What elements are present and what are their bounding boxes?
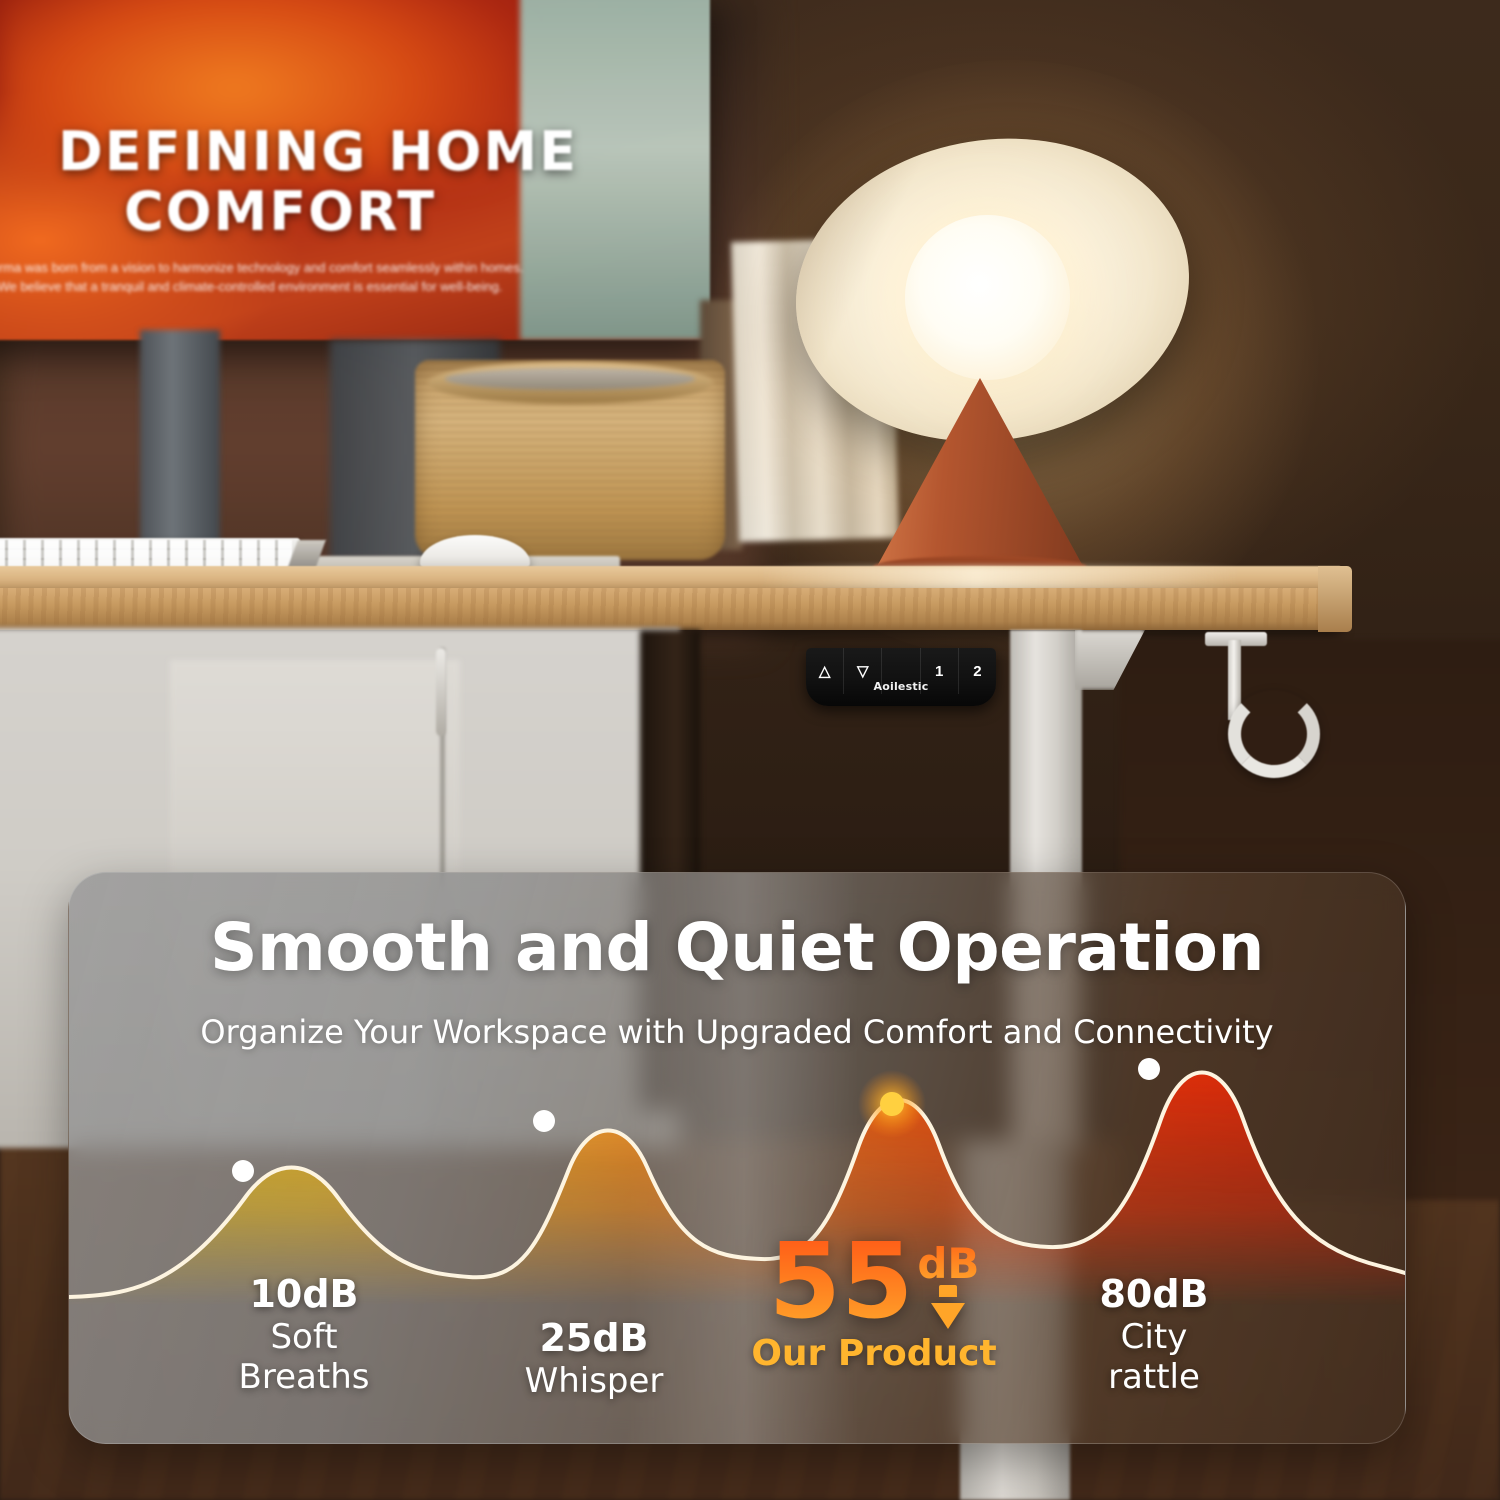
- desk-edge: [0, 588, 1340, 630]
- label-name-city-rattle-line1: City: [1029, 1317, 1279, 1357]
- monitor: DEFINING HOME COMFORT Therma was born fr…: [0, 0, 710, 340]
- card-subheadline: Organize Your Workspace with Upgraded Co…: [69, 1013, 1405, 1051]
- slide-title-line2: COMFORT: [0, 180, 650, 243]
- label-name-city-rattle-line2: rattle: [1029, 1357, 1279, 1397]
- lamp-bulb: [905, 215, 1070, 380]
- label-name-whisper-line1: Whisper: [459, 1361, 729, 1401]
- our-product-unit: dB: [917, 1243, 979, 1285]
- our-product-value: 55: [769, 1233, 914, 1329]
- cabinet-handle: [436, 648, 446, 736]
- label-value-soft-breaths: 10dB: [179, 1271, 429, 1317]
- our-product-value-row: 55 dB: [709, 1233, 1039, 1329]
- peak-dot-city-rattle: [1138, 1058, 1160, 1080]
- our-product-unit-arrow: dB: [917, 1243, 979, 1329]
- peak-dot-our-product: [880, 1092, 904, 1116]
- controller-brand-logo: Aoilestic: [806, 680, 996, 693]
- peak-dot-soft-breaths: [232, 1160, 254, 1182]
- peak-dot-whisper: [533, 1110, 555, 1132]
- keyboard-keys: [0, 540, 292, 568]
- chart-label-our-product: 55 dB Our Product: [709, 1233, 1039, 1374]
- info-card: Smooth and Quiet Operation Organize Your…: [68, 872, 1406, 1444]
- monitor-neck: [140, 330, 220, 560]
- slide-title-line1: DEFINING HOME: [0, 120, 688, 183]
- label-name-soft-breaths-line1: Soft: [179, 1317, 429, 1357]
- slide-body-text: Therma was born from a vision to harmoni…: [0, 258, 530, 296]
- card-headline: Smooth and Quiet Operation: [69, 909, 1405, 986]
- headphone-hook-icon: [1228, 690, 1320, 778]
- down-arrow-icon: [931, 1285, 965, 1329]
- chart-labels: 10dB Soft Breaths 25dB Whisper 55 dB: [69, 1271, 1405, 1441]
- desk-edge-cap: [1318, 566, 1352, 632]
- chart-label-soft-breaths: 10dB Soft Breaths: [179, 1271, 429, 1397]
- label-name-soft-breaths-line2: Breaths: [179, 1357, 429, 1397]
- chart-label-whisper: 25dB Whisper: [459, 1315, 729, 1401]
- label-value-whisper: 25dB: [459, 1315, 729, 1361]
- chart-label-city-rattle: 80dB City rattle: [1029, 1271, 1279, 1397]
- label-value-city-rattle: 80dB: [1029, 1271, 1279, 1317]
- basket-handle: [445, 368, 695, 390]
- product-marketing-image: DEFINING HOME COMFORT Therma was born fr…: [0, 0, 1500, 1500]
